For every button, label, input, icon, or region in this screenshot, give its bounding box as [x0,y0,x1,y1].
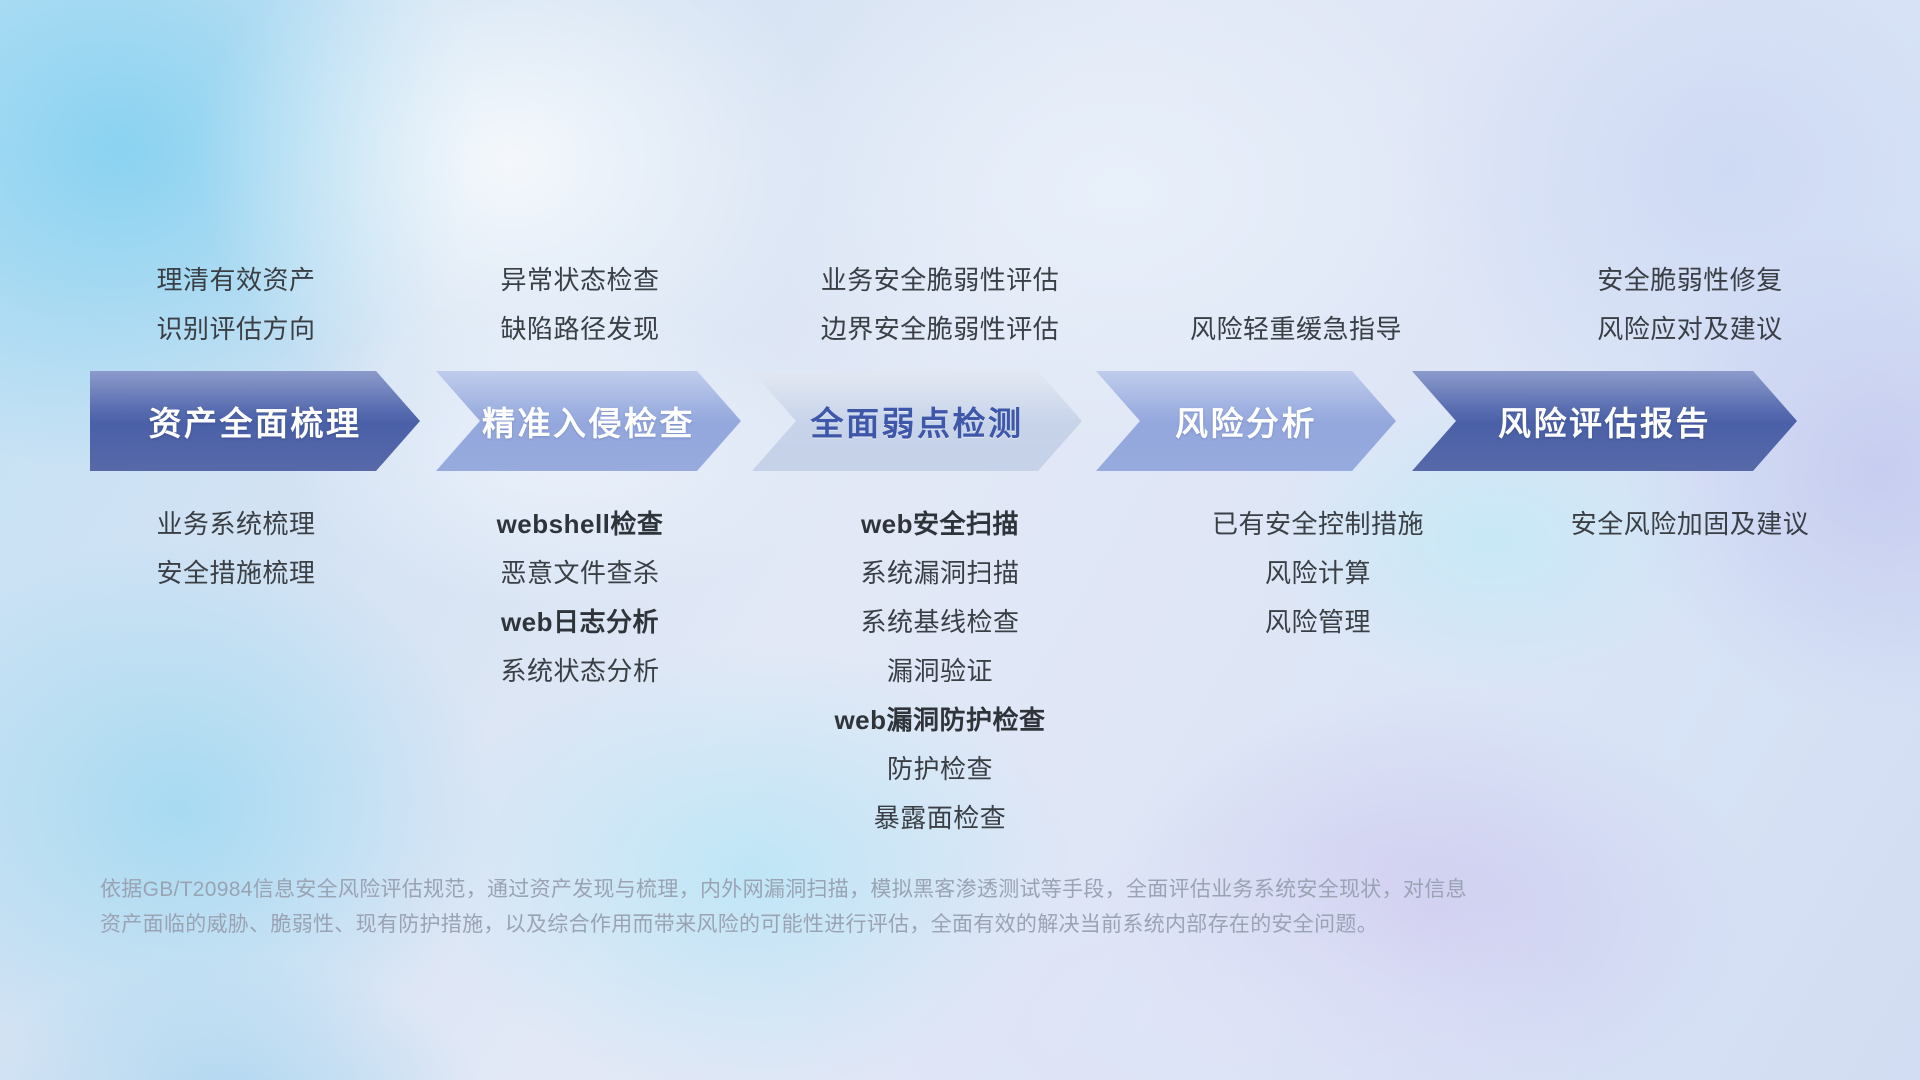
top-label-item: 安全脆弱性修复 [1390,256,1920,305]
bottom-item: web漏洞防护检查 [640,696,1240,745]
chevron-step-1[interactable]: 资产全面梳理 [90,371,420,471]
chevron-step-label: 精准入侵检查 [482,397,695,445]
footer-line-1: 依据GB/T20984信息安全风险评估规范，通过资产发现与梳理，内外网漏洞扫描，… [100,872,1660,907]
chevron-step-4[interactable]: 风险分析 [1096,371,1396,471]
chevron-step-label: 资产全面梳理 [149,397,362,445]
footer-description: 依据GB/T20984信息安全风险评估规范，通过资产发现与梳理，内外网漏洞扫描，… [100,872,1660,942]
top-label-row: 理清有效资产识别评估方向异常状态检查缺陷路径发现业务安全脆弱性评估边界安全脆弱性… [0,224,1920,354]
top-label-item: 风险应对及建议 [1390,305,1920,354]
bottom-item: 安全风险加固及建议 [1390,500,1920,549]
bottom-item: 防护检查 [640,745,1240,794]
top-labels-step-5: 安全脆弱性修复风险应对及建议 [1390,256,1920,354]
chevron-step-label: 全面弱点检测 [811,397,1024,445]
bottom-items-step-5: 安全风险加固及建议 [1390,500,1920,549]
chevron-step-band: 资产全面梳理精准入侵检查全面弱点检测风险分析风险评估报告 [0,371,1920,471]
bottom-item: 风险计算 [1018,549,1618,598]
bottom-item: 风险管理 [1018,598,1618,647]
process-diagram: 理清有效资产识别评估方向异常状态检查缺陷路径发现业务安全脆弱性评估边界安全脆弱性… [0,0,1920,1080]
chevron-step-label: 风险分析 [1175,397,1317,445]
chevron-step-5[interactable]: 风险评估报告 [1412,371,1797,471]
chevron-step-label: 风险评估报告 [1498,397,1711,445]
chevron-step-2[interactable]: 精准入侵检查 [436,371,741,471]
chevron-step-3[interactable]: 全面弱点检测 [752,371,1082,471]
bottom-item: 漏洞验证 [640,647,1240,696]
bottom-detail-row: 业务系统梳理安全措施梳理webshell检查恶意文件查杀web日志分析系统状态分… [0,500,1920,850]
footer-line-2: 资产面临的威胁、脆弱性、现有防护措施，以及综合作用而带来风险的可能性进行评估，全… [100,907,1660,942]
bottom-item: 暴露面检查 [640,794,1240,843]
top-label-item: 业务安全脆弱性评估 [640,256,1240,305]
